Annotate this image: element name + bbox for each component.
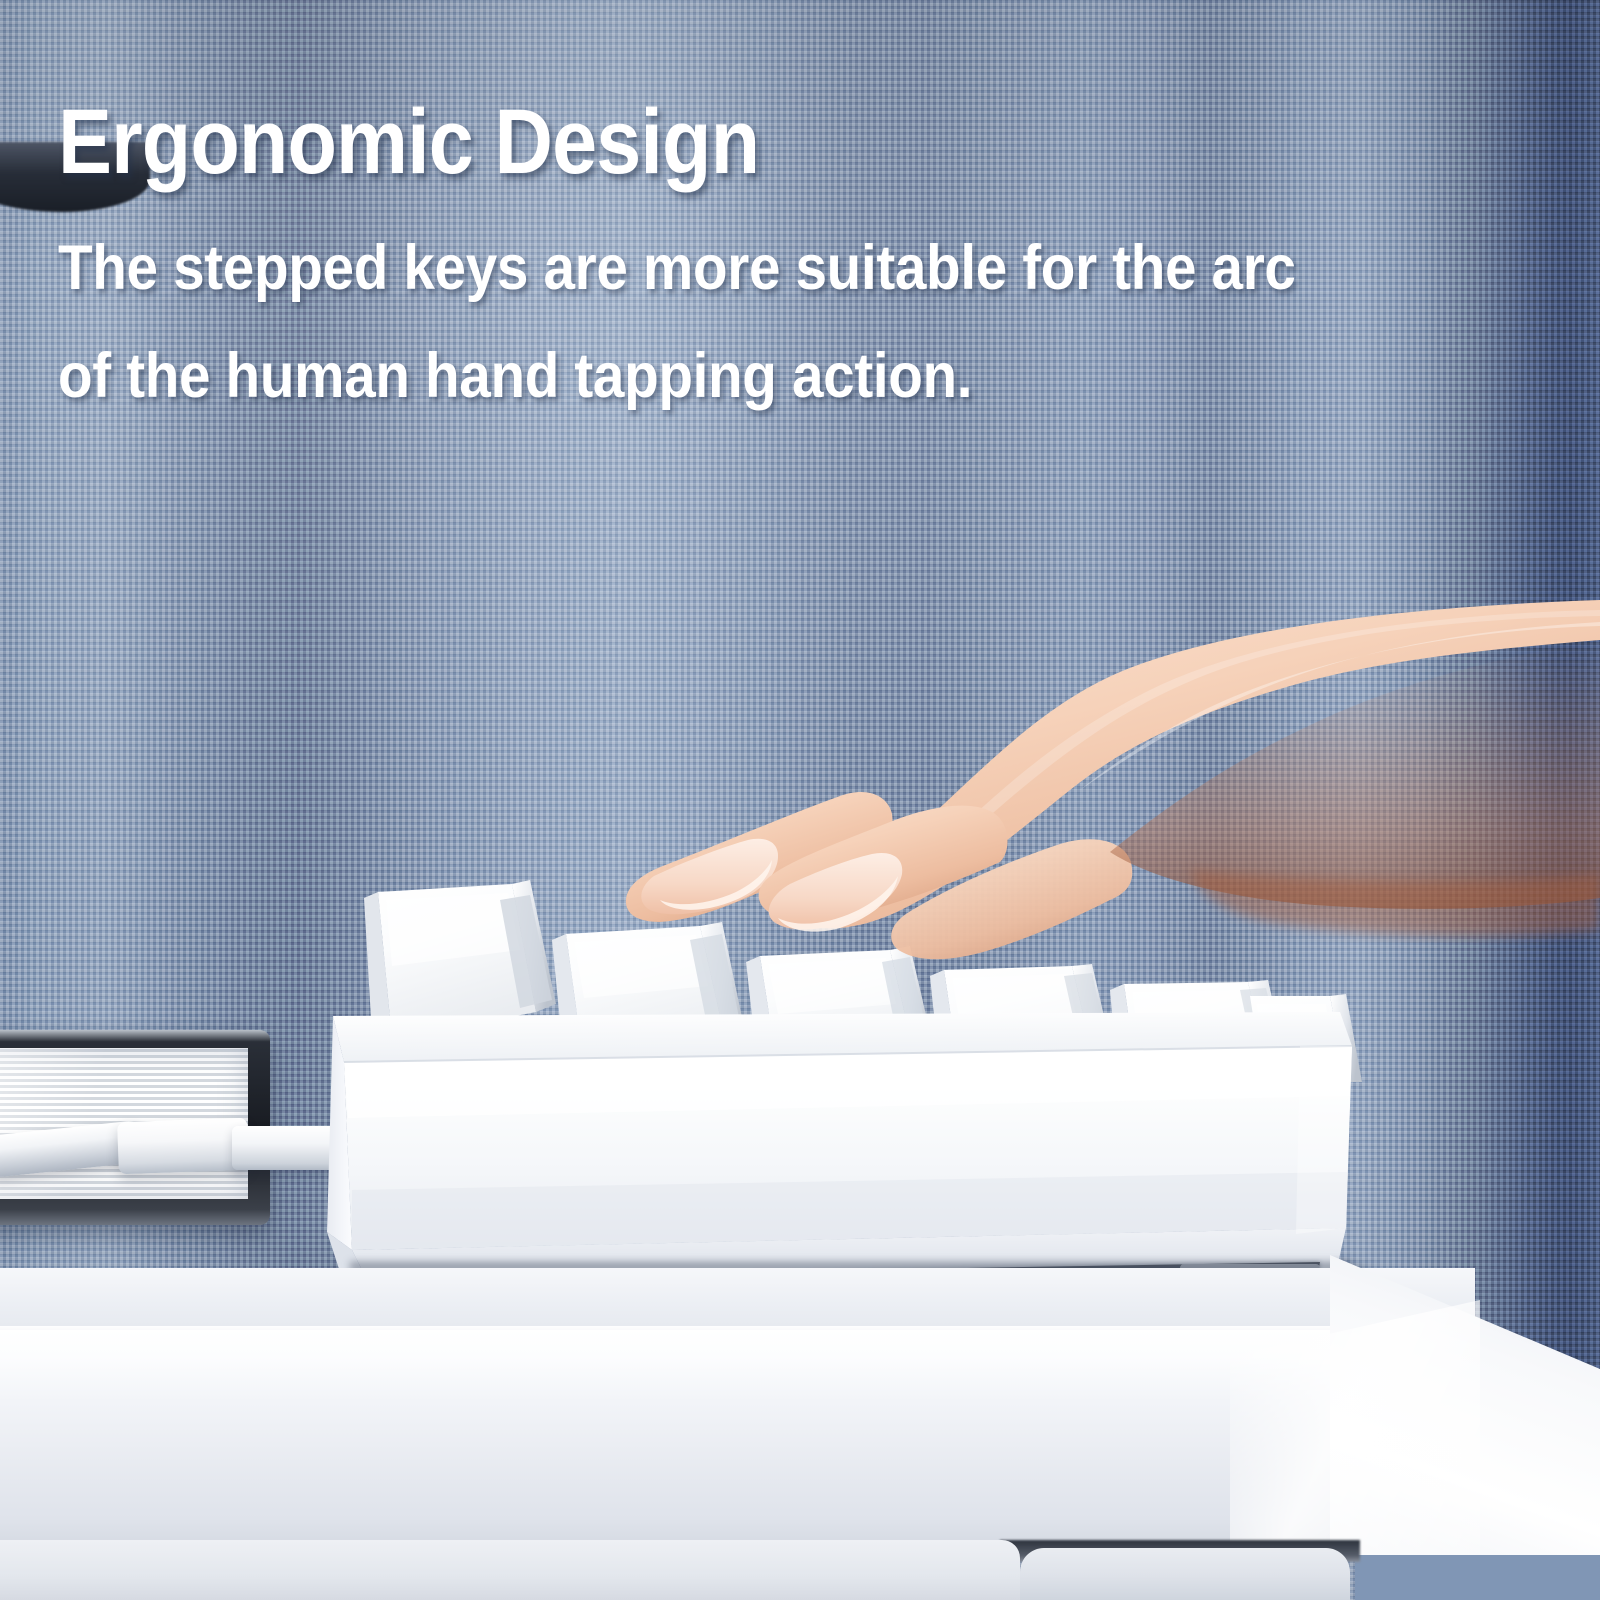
bottom-white-shelf — [0, 1540, 1020, 1600]
desk-front-edge — [0, 1330, 1445, 1555]
page-subtitle: The stepped keys are more suitable for t… — [58, 214, 1318, 431]
page-title: Ergonomic Design — [58, 96, 1290, 188]
bottom-white-object — [1020, 1548, 1350, 1600]
product-marketing-image: Ergonomic Design The stepped keys are mo… — [0, 0, 1600, 1600]
marketing-copy: Ergonomic Design The stepped keys are mo… — [58, 96, 1458, 431]
usb-cable-segment-right — [232, 1126, 342, 1170]
usb-cable-connector — [117, 1118, 249, 1175]
